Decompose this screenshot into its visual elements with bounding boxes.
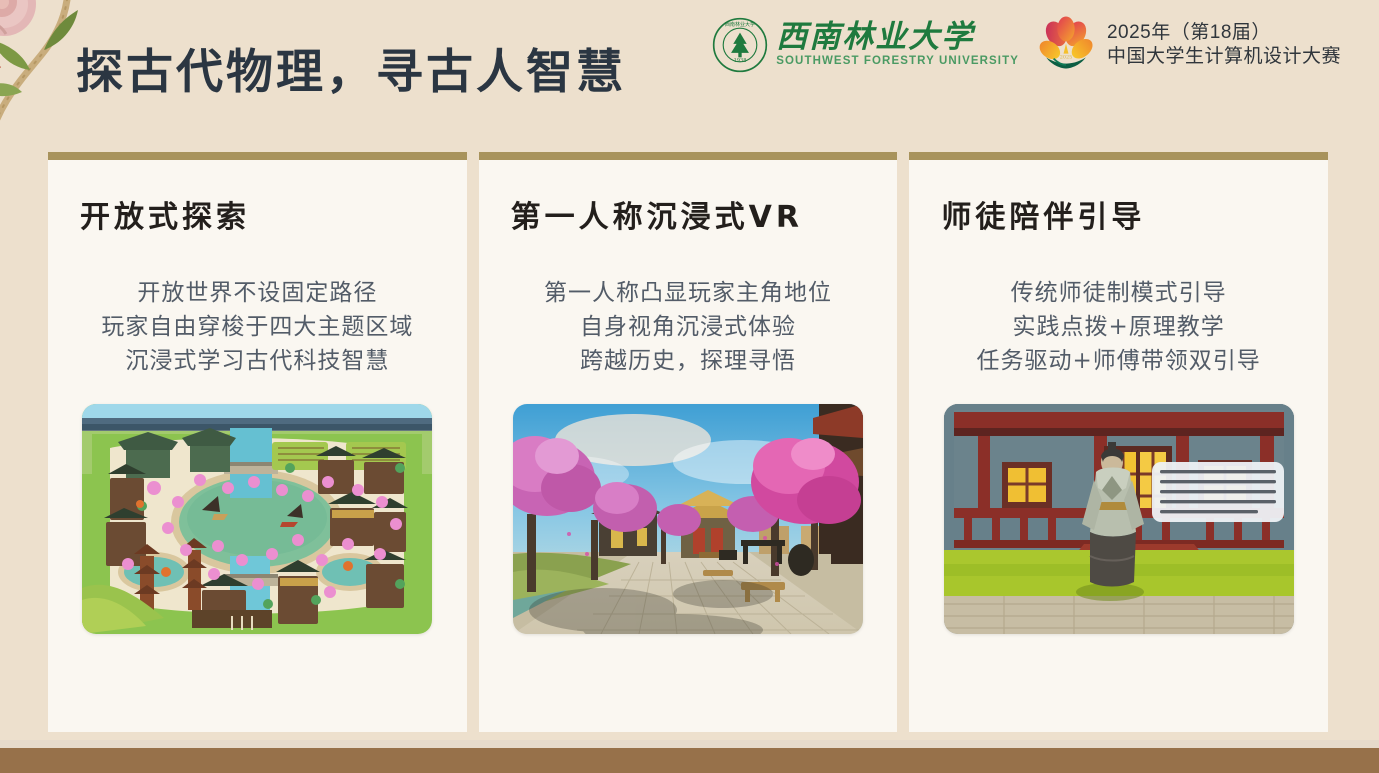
feature-card-row: 开放式探索 开放世界不设固定路径 玩家自由穿梭于四大主题区域 沉浸式学习古代科技… — [48, 152, 1328, 732]
card-body-line: 沉浸式学习古代科技智慧 — [48, 344, 467, 378]
contest-year-label: 2025年（第18届） — [1107, 21, 1341, 45]
page-title: 探古代物理，寻古人智慧 — [76, 33, 626, 102]
svg-text:1938: 1938 — [734, 58, 747, 64]
card-body-line: 第一人称凸显玩家主角地位 — [479, 276, 898, 310]
card-body-line: 任务驱动+师傅带领双引导 — [909, 344, 1328, 378]
feature-card-master-guidance[interactable]: 师徒陪伴引导 传统师徒制模式引导 实践点拨+原理教学 任务驱动+师傅带领双引导 — [909, 152, 1328, 732]
university-name-cn: 西南林业大学 — [776, 22, 1019, 53]
card-heading: 第一人称沉浸式VR — [511, 192, 803, 236]
isometric-ancient-town-map — [82, 404, 432, 634]
card-body-line: 传统师徒制模式引导 — [909, 276, 1328, 310]
card-body: 传统师徒制模式引导 实践点拨+原理教学 任务驱动+师傅带领双引导 — [909, 276, 1328, 378]
card-heading: 开放式探索 — [80, 192, 250, 236]
feature-card-open-exploration[interactable]: 开放式探索 开放世界不设固定路径 玩家自由穿梭于四大主题区域 沉浸式学习古代科技… — [48, 152, 467, 732]
card-body-line: 自身视角沉浸式体验 — [479, 310, 898, 344]
svg-text:西南林业大学: 西南林业大学 — [725, 21, 755, 28]
footer-bar — [0, 748, 1379, 773]
presentation-slide: 探古代物理，寻古人智慧 1938 西南林业大学 西南林业大学 SOUTHWEST… — [0, 0, 1379, 773]
feature-card-first-person-vr[interactable]: 第一人称沉浸式VR 第一人称凸显玩家主角地位 自身视角沉浸式体验 跨越历史，探理… — [479, 152, 898, 732]
university-seal-icon: 1938 西南林业大学 — [712, 17, 768, 73]
university-name-en: SOUTHWEST FORESTRY UNIVERSITY — [776, 56, 1019, 68]
svg-text:2025: 2025 — [1060, 55, 1073, 61]
card-body: 第一人称凸显玩家主角地位 自身视角沉浸式体验 跨越历史，探理寻悟 — [479, 276, 898, 378]
contest-name-label: 中国大学生计算机设计大赛 — [1107, 45, 1341, 69]
card-body-line: 玩家自由穿梭于四大主题区域 — [48, 310, 467, 344]
card-body: 开放世界不设固定路径 玩家自由穿梭于四大主题区域 沉浸式学习古代科技智慧 — [48, 276, 467, 378]
contest-logo-group: 2025 2025年（第18届） 中国大学生计算机设计大赛 — [1035, 14, 1341, 76]
slide-header: 探古代物理，寻古人智慧 1938 西南林业大学 西南林业大学 SOUTHWEST… — [0, 0, 1379, 140]
card-body-line: 实践点拨+原理教学 — [909, 310, 1328, 344]
card-body-line: 开放世界不设固定路径 — [48, 276, 467, 310]
footer-light-band — [0, 740, 1379, 748]
master-npc-dialogue-scene — [944, 404, 1294, 634]
card-heading: 师徒陪伴引导 — [941, 192, 1145, 236]
first-person-cherry-blossom-street — [513, 404, 863, 634]
card-body-line: 跨越历史，探理寻悟 — [479, 344, 898, 378]
university-logo: 1938 西南林业大学 西南林业大学 SOUTHWEST FORESTRY UN… — [712, 17, 1019, 73]
header-logos: 1938 西南林业大学 西南林业大学 SOUTHWEST FORESTRY UN… — [712, 14, 1341, 76]
contest-flower-icon: 2025 — [1035, 14, 1097, 76]
